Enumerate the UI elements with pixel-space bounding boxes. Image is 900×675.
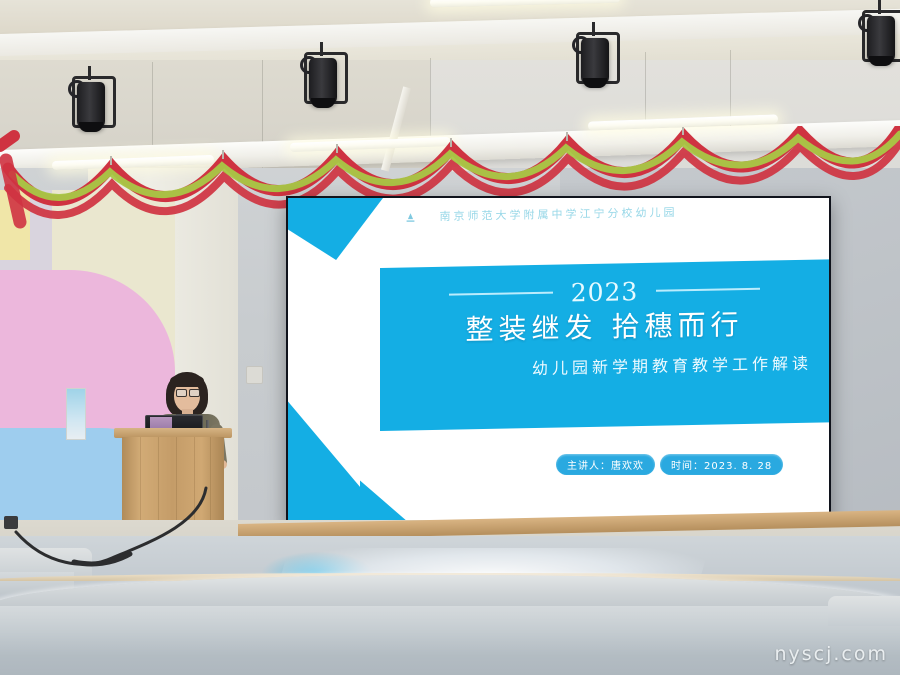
power-cable <box>0 480 230 580</box>
watermark: nyscj.com <box>774 643 888 665</box>
glasses-lens-right <box>189 389 200 397</box>
divider-left <box>449 292 553 296</box>
wall-plate <box>246 366 263 384</box>
stage-spotlight <box>300 42 346 112</box>
stage-spotlight <box>572 22 618 92</box>
wall-panel-small <box>66 388 86 440</box>
slide-chevron-top <box>288 198 386 260</box>
floor-reflection <box>0 606 900 656</box>
laptop-screen-glow <box>150 417 172 428</box>
stage-spotlight <box>858 0 900 70</box>
slide-date-badge: 时间：2023. 8. 28 <box>660 454 783 475</box>
slide-chevron-notch <box>360 454 456 524</box>
projection-screen-frame: 南京师范大学附属中学江宁分校幼儿园 2023 整装继发 拾穗而行 幼儿园新学期教… <box>286 196 831 526</box>
presenter-fringe <box>170 374 204 387</box>
slide-speaker-badge: 主讲人：唐欢欢 <box>556 454 655 475</box>
slide-year: 2023 <box>571 279 639 305</box>
glasses-lens-left <box>176 389 187 397</box>
projection-screen: 南京师范大学附属中学江宁分校幼儿园 2023 整装继发 拾穗而行 幼儿园新学期教… <box>288 198 829 524</box>
stage-step-right <box>828 596 900 626</box>
auditorium-photo: 南京师范大学附属中学江宁分校幼儿园 2023 整装继发 拾穗而行 幼儿园新学期教… <box>0 0 900 675</box>
divider-right <box>656 288 760 292</box>
